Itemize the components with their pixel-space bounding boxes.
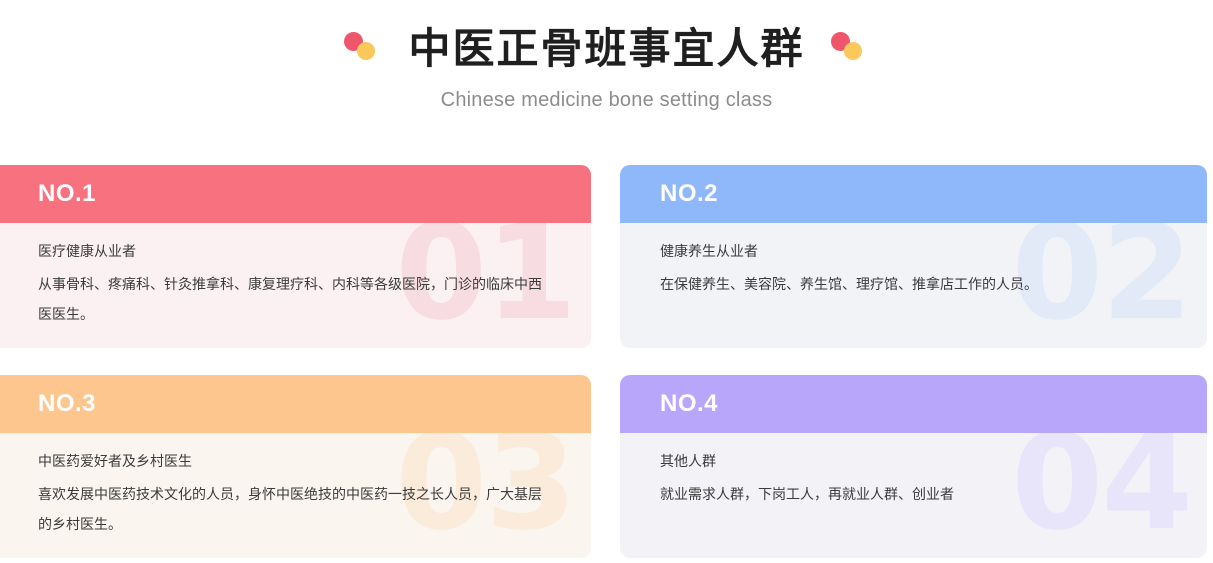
- card-header: NO.2: [620, 165, 1207, 223]
- card-badge: NO.2: [660, 182, 718, 206]
- card-description: 喜欢发展中医药技术文化的人员，身怀中医绝技的中医药一技之长人员，广大基层的乡村医…: [38, 481, 547, 540]
- circle-yellow-icon: [357, 42, 375, 60]
- card-body: 03 中医药爱好者及乡村医生 喜欢发展中医药技术文化的人员，身怀中医绝技的中医药…: [0, 433, 591, 558]
- card-text: 中医药爱好者及乡村医生 喜欢发展中医药技术文化的人员，身怀中医绝技的中医药一技之…: [38, 451, 547, 540]
- card-text: 其他人群 就业需求人群，下岗工人，再就业人群、创业者: [660, 451, 1163, 511]
- card-header: NO.4: [620, 375, 1207, 433]
- card-no-1: NO.1 01 医疗健康从业者 从事骨科、疼痛科、针灸推拿科、康复理疗科、内科等…: [0, 165, 591, 348]
- page-header: 中医正骨班事宜人群 Chinese medicine bone setting …: [0, 0, 1213, 112]
- card-description: 从事骨科、疼痛科、针灸推拿科、康复理疗科、内科等各级医院，门诊的临床中西医医生。: [38, 271, 547, 330]
- card-inner: NO.1 01 医疗健康从业者 从事骨科、疼痛科、针灸推拿科、康复理疗科、内科等…: [0, 165, 591, 348]
- page-subtitle: Chinese medicine bone setting class: [0, 89, 1213, 112]
- card-badge: NO.3: [38, 392, 96, 416]
- card-inner: NO.2 02 健康养生从业者 在保健养生、美容院、养生馆、理疗馆、推拿店工作的…: [620, 165, 1207, 348]
- card-header: NO.3: [0, 375, 591, 433]
- card-body: 01 医疗健康从业者 从事骨科、疼痛科、针灸推拿科、康复理疗科、内科等各级医院，…: [0, 223, 591, 348]
- card-no-3: NO.3 03 中医药爱好者及乡村医生 喜欢发展中医药技术文化的人员，身怀中医绝…: [0, 375, 591, 558]
- circle-yellow-icon: [844, 42, 862, 60]
- card-description: 就业需求人群，下岗工人，再就业人群、创业者: [660, 481, 1163, 510]
- card-badge: NO.1: [38, 182, 96, 206]
- card-body: 02 健康养生从业者 在保健养生、美容院、养生馆、理疗馆、推拿店工作的人员。: [620, 223, 1207, 348]
- card-subject: 中医药爱好者及乡村医生: [38, 451, 547, 473]
- card-badge: NO.4: [660, 392, 718, 416]
- card-grid: NO.1 01 医疗健康从业者 从事骨科、疼痛科、针灸推拿科、康复理疗科、内科等…: [0, 165, 1213, 563]
- card-no-2: NO.2 02 健康养生从业者 在保健养生、美容院、养生馆、理疗馆、推拿店工作的…: [620, 165, 1207, 348]
- title-row: 中医正骨班事宜人群: [0, 18, 1213, 80]
- page-title: 中医正骨班事宜人群: [408, 28, 804, 70]
- card-subject: 医疗健康从业者: [38, 241, 547, 263]
- card-subject: 其他人群: [660, 451, 1163, 473]
- card-inner: NO.3 03 中医药爱好者及乡村医生 喜欢发展中医药技术文化的人员，身怀中医绝…: [0, 375, 591, 558]
- two-circles-icon-right: [831, 32, 869, 66]
- card-description: 在保健养生、美容院、养生馆、理疗馆、推拿店工作的人员。: [660, 271, 1163, 300]
- card-subject: 健康养生从业者: [660, 241, 1163, 263]
- card-text: 健康养生从业者 在保健养生、美容院、养生馆、理疗馆、推拿店工作的人员。: [660, 241, 1163, 301]
- card-text: 医疗健康从业者 从事骨科、疼痛科、针灸推拿科、康复理疗科、内科等各级医院，门诊的…: [38, 241, 547, 330]
- card-header: NO.1: [0, 165, 591, 223]
- card-no-4: NO.4 04 其他人群 就业需求人群，下岗工人，再就业人群、创业者: [620, 375, 1207, 558]
- two-circles-icon-left: [344, 32, 382, 66]
- card-inner: NO.4 04 其他人群 就业需求人群，下岗工人，再就业人群、创业者: [620, 375, 1207, 558]
- card-body: 04 其他人群 就业需求人群，下岗工人，再就业人群、创业者: [620, 433, 1207, 558]
